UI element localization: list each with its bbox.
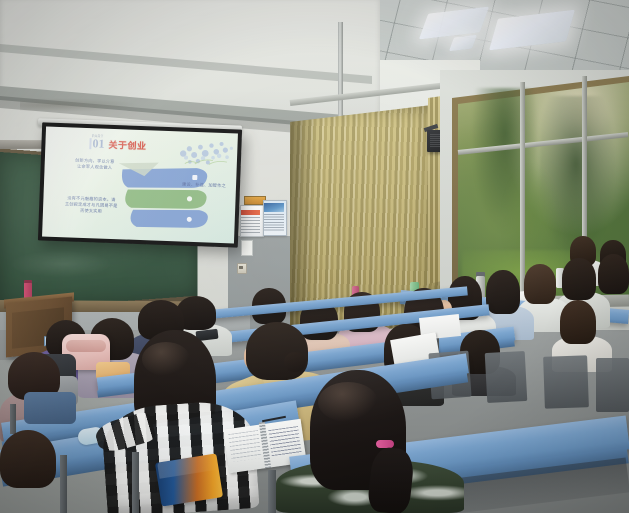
projector-mount-pole [338, 22, 343, 126]
student-head [562, 258, 596, 300]
student-head [0, 430, 56, 488]
desk-leg [268, 470, 276, 513]
soffit-stain [20, 98, 140, 112]
notebook-lines [228, 430, 262, 462]
student-head [560, 300, 596, 344]
window-mullion-vertical [520, 82, 525, 306]
hair-bun [284, 352, 306, 372]
poster-text-lines [264, 214, 284, 232]
power-outlet-socket-icon [239, 266, 243, 269]
hair-tie [376, 440, 394, 448]
chair[interactable] [543, 355, 589, 409]
projection-screen: PART 01 关于创业 创新方向，学以介意 让命军人观念做人 没有不元魅趣的资… [38, 122, 242, 247]
small-white-notice [241, 240, 253, 256]
poster-text-lines [241, 217, 260, 233]
bottle-cap [24, 280, 32, 283]
desk-leg [60, 455, 67, 513]
slide-canvas: PART 01 关于创业 创新方向，学以介意 让命军人观念做人 没有不元魅趣的资… [42, 127, 238, 244]
chalk-smudge [10, 250, 112, 278]
hair-highlight [318, 382, 378, 422]
poster-photo [264, 203, 284, 212]
chair[interactable] [485, 351, 528, 403]
classroom-photo: PART 01 关于创业 创新方向，学以介意 让命军人观念做人 没有不元魅趣的资… [0, 0, 629, 513]
poster-red-banner [241, 210, 260, 215]
desk-leg [10, 404, 16, 434]
screen-glare [42, 127, 238, 244]
backpack-flap [66, 340, 106, 352]
notebook-handwriting [268, 426, 302, 458]
student-head [524, 264, 556, 304]
desk-leg [132, 452, 139, 513]
chair[interactable] [596, 358, 629, 412]
student-head [486, 270, 520, 314]
denim-bag[interactable] [24, 392, 76, 424]
hair-highlight [142, 342, 190, 376]
student-head [598, 254, 629, 294]
